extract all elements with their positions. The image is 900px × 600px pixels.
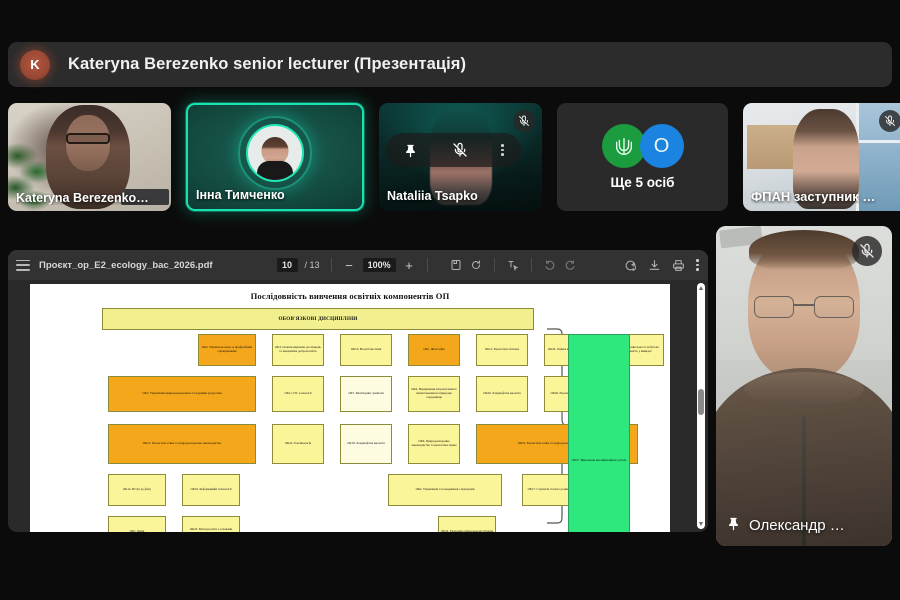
undo-icon[interactable] bbox=[544, 259, 556, 271]
avatar: O bbox=[640, 124, 684, 168]
mic-off-icon bbox=[852, 236, 882, 266]
avatar bbox=[246, 124, 304, 182]
trident-icon bbox=[602, 124, 646, 168]
diagram-node: ОК18. Ландшафтна екологія bbox=[340, 424, 392, 464]
glasses-decoration bbox=[66, 133, 110, 144]
collar-decoration bbox=[744, 372, 864, 406]
diagram-node: ОК4. Нормування антропогенного навантаже… bbox=[408, 376, 460, 412]
scroll-down-icon[interactable] bbox=[699, 522, 703, 526]
pdf-scrollbar[interactable] bbox=[697, 283, 705, 529]
document-title: Послідовність вивчення освітніх компонен… bbox=[30, 291, 670, 301]
participant-name: ФПАН заступник … bbox=[751, 189, 900, 204]
divider bbox=[331, 258, 332, 272]
scrollbar-thumb[interactable] bbox=[698, 389, 704, 415]
save-icon[interactable] bbox=[450, 259, 462, 271]
participant-tile-fpan[interactable]: ФПАН заступник … bbox=[743, 103, 900, 211]
pdf-toolbar-right bbox=[624, 259, 708, 272]
pin-icon bbox=[726, 515, 741, 536]
participant-tile-inna-active-speaker[interactable]: Інна Тимченко bbox=[186, 103, 364, 211]
pdf-annotation-tools bbox=[450, 258, 576, 272]
participant-tile-strip: Kateryna Berezenko… Інна Тимченко bbox=[8, 103, 892, 211]
pdf-page: Послідовність вивчення освітніх компонен… bbox=[30, 284, 670, 532]
scroll-up-icon[interactable] bbox=[699, 286, 703, 290]
pdf-toolbar: Проєкт_op_E2_ecology_bac_2026.pdf 10 / 1… bbox=[8, 250, 708, 280]
glasses-decoration bbox=[754, 296, 854, 318]
avatar-head bbox=[262, 137, 289, 164]
diagram-node: ОК12. Екологічна безпека bbox=[476, 334, 528, 366]
diagram-banner: ОБОВ'ЯЗКОВІ ДИСЦИПЛІНИ bbox=[102, 308, 534, 330]
divider bbox=[494, 258, 495, 272]
print-icon[interactable] bbox=[672, 259, 685, 272]
zoom-in-button[interactable]: + bbox=[403, 259, 416, 272]
participant-tile-nataliia[interactable]: Nataliia Tsapko bbox=[379, 103, 542, 211]
diagram-node: ОК11. ГІС в екології bbox=[272, 376, 324, 412]
page-number-input[interactable]: 10 bbox=[277, 258, 298, 272]
tile-hover-controls[interactable] bbox=[386, 133, 521, 167]
pdf-filename: Проєкт_op_E2_ecology_bac_2026.pdf bbox=[39, 260, 213, 271]
pdf-page-stage: Послідовність вивчення освітніх компонен… bbox=[8, 280, 708, 532]
spotlight-participant-name-row: Олександр … bbox=[726, 515, 884, 536]
avatar-body bbox=[257, 161, 293, 180]
diagram-node: ОК6. Природоохоронне законодавство та ек… bbox=[408, 424, 460, 464]
person-hair bbox=[749, 230, 859, 270]
participant-name: Nataliia Tsapko bbox=[387, 189, 534, 203]
pin-icon[interactable] bbox=[403, 143, 418, 158]
more-participants-tile[interactable]: O Ще 5 осіб bbox=[557, 103, 728, 211]
page-title: Kateryna Berezenko senior lecturer (През… bbox=[68, 55, 466, 74]
zoom-out-button[interactable]: − bbox=[343, 259, 356, 272]
mic-off-icon bbox=[513, 110, 535, 132]
text-select-icon[interactable] bbox=[507, 259, 519, 271]
redo-icon[interactable] bbox=[564, 259, 576, 271]
diagram-node: ОК23. Метеорологія з основами кліматолог… bbox=[182, 516, 240, 532]
mic-off-icon[interactable] bbox=[452, 142, 468, 158]
presentation-header-bar: K Kateryna Berezenko senior lecturer (Пр… bbox=[8, 42, 892, 87]
spotlight-tile-oleksandr[interactable]: Олександр … bbox=[716, 226, 892, 546]
page-total-label: / 13 bbox=[305, 260, 320, 270]
avatar-group: O bbox=[602, 124, 684, 168]
more-options-icon[interactable] bbox=[696, 259, 699, 271]
divider bbox=[427, 258, 428, 272]
diagram-node: ОК13. Екологічна етика та природоохоронн… bbox=[108, 424, 256, 464]
diagram-banner-label: ОБОВ'ЯЗКОВІ ДИСЦИПЛІНИ bbox=[278, 316, 357, 322]
participant-name: Олександр … bbox=[749, 517, 845, 534]
pdf-viewer: Проєкт_op_E2_ecology_bac_2026.pdf 10 / 1… bbox=[8, 250, 708, 532]
diagram-node: ОК20. Ландшафтна екологія bbox=[476, 376, 528, 412]
diagram-node: ОК16. Біологічна хімія bbox=[340, 334, 392, 366]
mic-off-icon bbox=[879, 110, 900, 132]
rotate-icon[interactable] bbox=[470, 259, 482, 271]
diagram-node: ОК14. Вступ до фаху bbox=[108, 474, 166, 506]
avatar: K bbox=[20, 50, 50, 80]
more-options-icon[interactable] bbox=[501, 144, 504, 156]
sidebar-menu-icon[interactable] bbox=[16, 260, 30, 271]
diagram-node: ОК3. Основи наукових досліджень та акаде… bbox=[272, 334, 324, 366]
diagram-node: ОК2. Українська мова за професійним спря… bbox=[198, 334, 256, 366]
diagram-node: ОК10. Інформаційні технології bbox=[182, 474, 240, 506]
diagram-node: ОК2. Управління та поводження з відходам… bbox=[388, 474, 502, 506]
add-comment-icon[interactable] bbox=[624, 259, 637, 272]
course-sequence-diagram: ОБОВ'ЯЗКОВІ ДИСЦИПЛІНИ ОК2. Українська м… bbox=[102, 308, 622, 530]
diagram-node: ОК7. Моніторинг довкілля bbox=[340, 376, 392, 412]
more-participants-label: Ще 5 осіб bbox=[611, 175, 675, 190]
pdf-page-controls: 10 / 13 − 100% + bbox=[277, 258, 432, 272]
diagram-node: ОК7. Хімія bbox=[108, 516, 166, 532]
google-meet-window: K Kateryna Berezenko senior lecturer (Пр… bbox=[0, 0, 900, 600]
participant-tile-kateryna[interactable]: Kateryna Berezenko… bbox=[8, 103, 171, 211]
participant-name: Kateryna Berezenko… bbox=[16, 191, 163, 205]
diagram-node: ОК1. Філософія bbox=[408, 334, 460, 366]
pdf-toolbar-left: Проєкт_op_E2_ecology_bac_2026.pdf bbox=[8, 260, 213, 271]
diagram-node: ОК5. Управління природоохоронною та водн… bbox=[108, 376, 256, 412]
zoom-level-value[interactable]: 100% bbox=[363, 258, 396, 272]
participant-name: Інна Тимченко bbox=[196, 188, 354, 202]
download-icon[interactable] bbox=[648, 259, 661, 272]
diagram-node: ОК22. Токсикологія bbox=[272, 424, 324, 464]
diagram-node: ОК24. Економіка природокористування bbox=[438, 516, 496, 532]
diagram-node: ОК27. Виконання кваліфікаційної роботи bbox=[568, 334, 630, 532]
divider bbox=[531, 258, 532, 272]
